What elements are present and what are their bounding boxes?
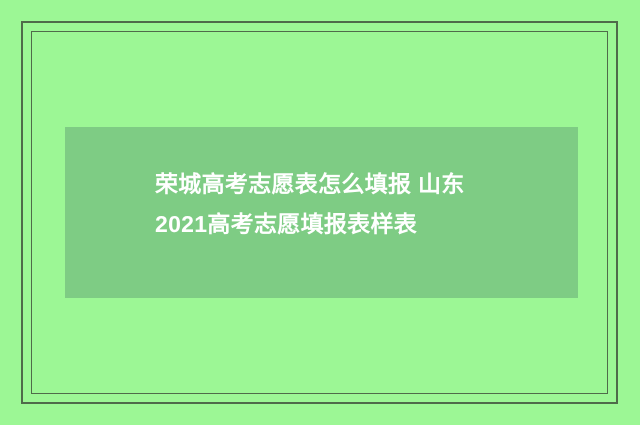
title-card: 荣城高考志愿表怎么填报 山东 2021高考志愿填报表样表 [0, 0, 640, 425]
page-title: 荣城高考志愿表怎么填报 山东 2021高考志愿填报表样表 [155, 164, 555, 244]
headline-panel: 荣城高考志愿表怎么填报 山东 2021高考志愿填报表样表 [65, 127, 578, 298]
